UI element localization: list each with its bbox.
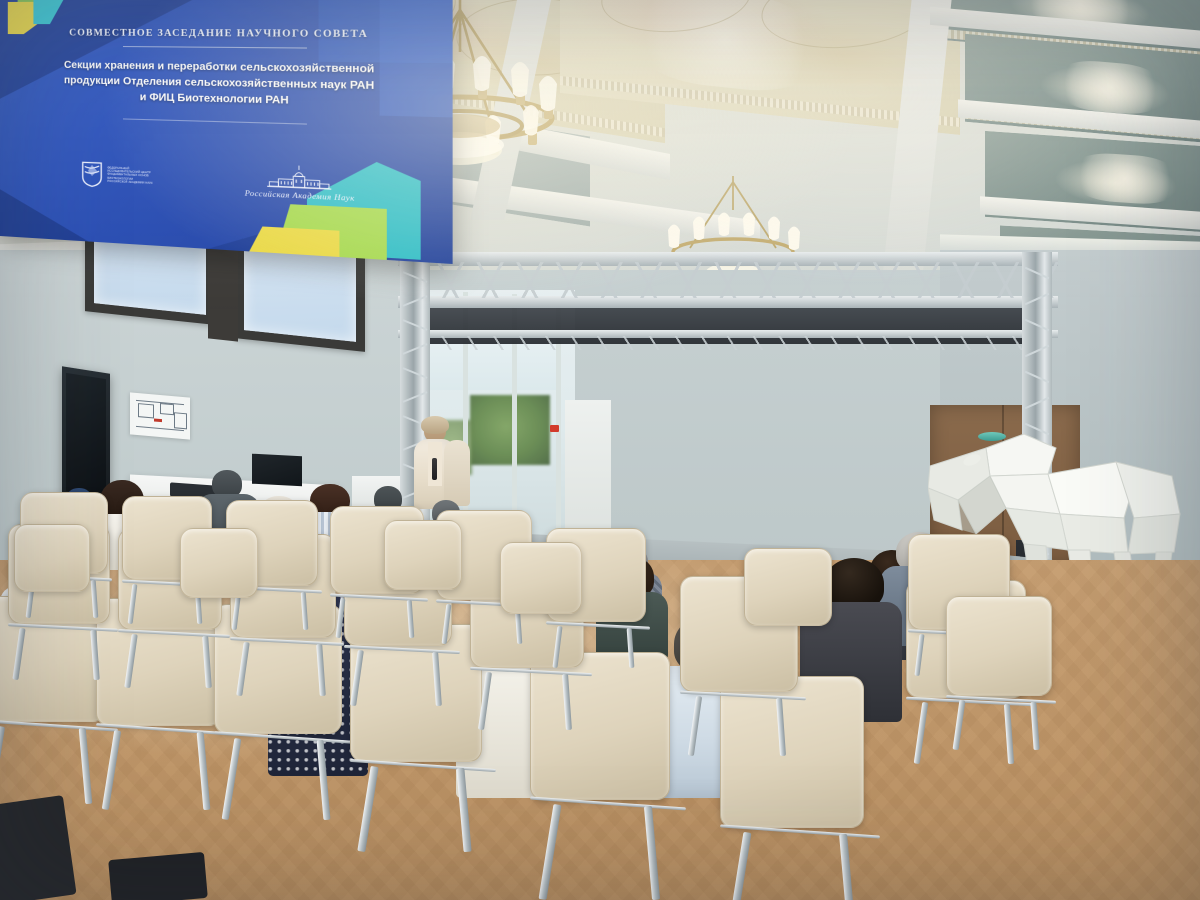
white-cabinet [565, 400, 611, 540]
ras-logo-caption: Российская Академия Наук [245, 188, 355, 203]
slide-content: СОВМЕСТНОЕ ЗАСЕДАНИЕ НАУЧНОГО СОВЕТА Сек… [0, 0, 453, 264]
shield-icon [81, 160, 104, 188]
russian-academy-of-sciences-logo: Российская Академия Наук [245, 163, 355, 202]
microphone [432, 458, 437, 480]
slide-title: Секции хранения и переработки сельскохоз… [64, 58, 374, 112]
floor-dark-object-2 [108, 852, 208, 900]
chair-row4-1[interactable] [14, 524, 92, 616]
exit-sign [550, 425, 559, 432]
wall-display-screen [66, 373, 106, 497]
chair-row4-4[interactable] [500, 542, 584, 640]
diagram-poster [130, 392, 190, 439]
frc-biotechnology-ras-logo: ФЕДЕРАЛЬНЫЙ ИССЛЕДОВАТЕЛЬСКИЙ ЦЕНТР ФУНД… [81, 160, 154, 190]
slide-divider-top [123, 46, 307, 49]
chair-row4-3[interactable] [384, 520, 464, 614]
chair-row4-6[interactable] [946, 596, 1056, 746]
slide-kicker-text: СОВМЕСТНОЕ ЗАСЕДАНИЕ НАУЧНОГО СОВЕТА [69, 28, 368, 40]
presentation-screen[interactable]: СОВМЕСТНОЕ ЗАСЕДАНИЕ НАУЧНОГО СОВЕТА Сек… [0, 0, 453, 264]
frc-logo-caption: ФЕДЕРАЛЬНЫЙ ИССЛЕДОВАТЕЛЬСКИЙ ЦЕНТР ФУНД… [107, 166, 153, 185]
outdoor-greenery [470, 395, 550, 465]
slide-divider-bottom [123, 119, 307, 125]
conference-hall-photo: СОВМЕСТНОЕ ЗАСЕДАНИЕ НАУЧНОГО СОВЕТА Сек… [0, 0, 1200, 900]
truss-top-bracing [398, 262, 1058, 298]
chair-row4-5[interactable] [744, 548, 834, 652]
academy-building-icon [265, 164, 334, 191]
truss-lower-bracing [412, 336, 1024, 350]
chair-row4-2[interactable] [180, 528, 260, 622]
